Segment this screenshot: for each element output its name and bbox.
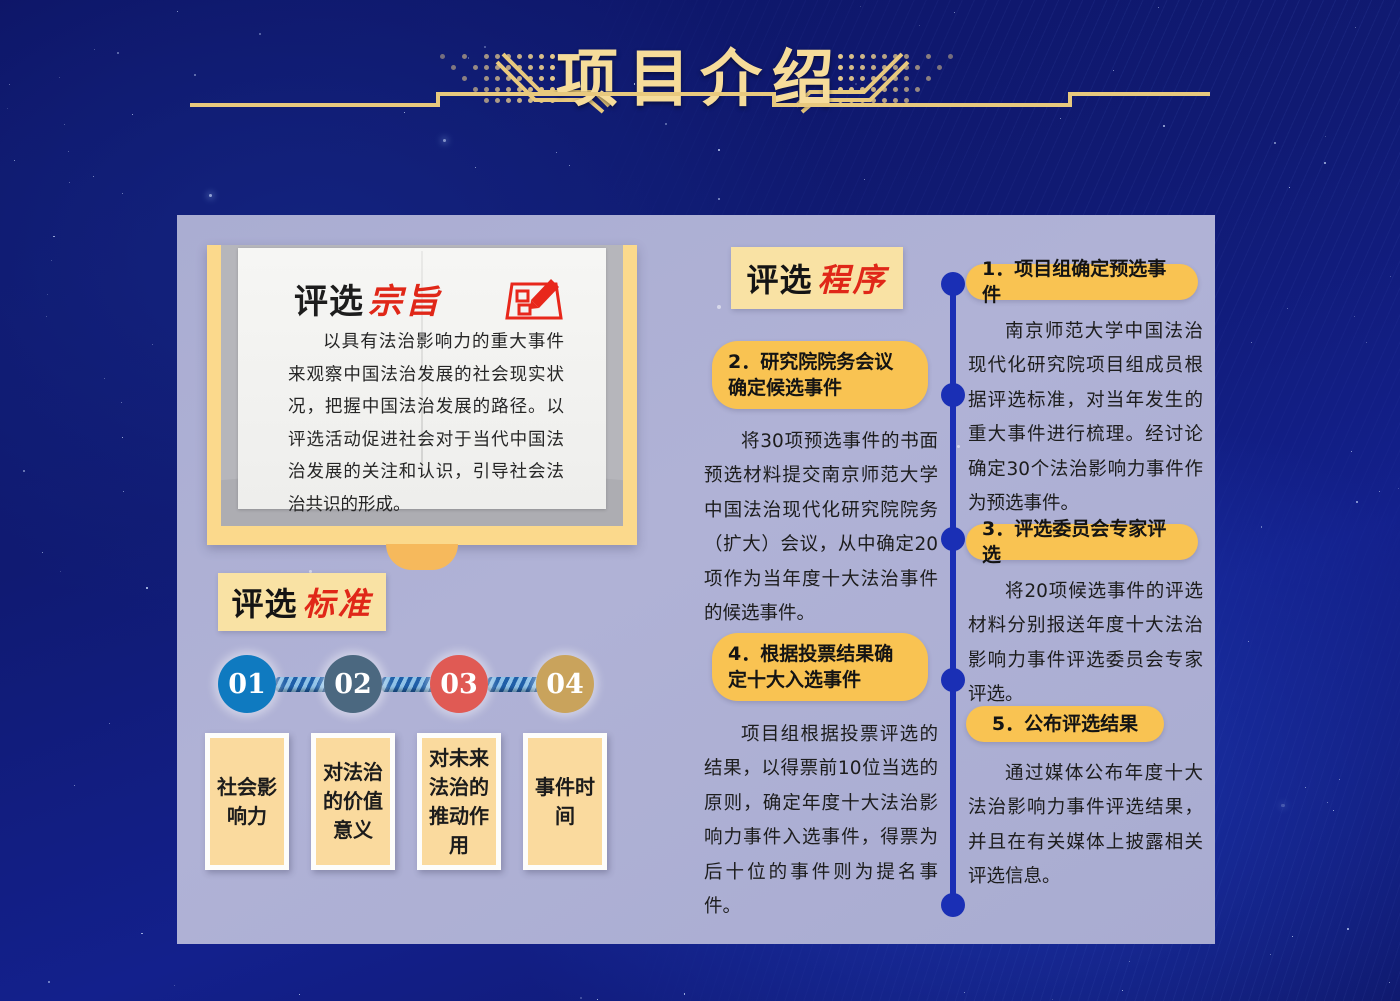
criteria-card-04[interactable]: 事件时间 (523, 733, 607, 870)
criteria-heading-accent: 标准 (303, 579, 373, 625)
criteria-card-03[interactable]: 对未来法治的推动作用 (417, 733, 501, 870)
criteria-connector-2 (382, 677, 434, 692)
purpose-heading: 评选宗旨 (294, 274, 442, 323)
purpose-heading-accent: 宗旨 (368, 282, 442, 322)
criteria-node-01-num: 01 (228, 669, 266, 700)
clipboard-pencil-icon (504, 270, 566, 324)
procedure-step-3-title-text: 3．评选委员会专家评选 (982, 516, 1182, 568)
header-rule-left (190, 103, 440, 107)
timeline-dot-3 (941, 527, 965, 551)
criteria-card-02[interactable]: 对法治的价值意义 (311, 733, 395, 870)
procedure-step-3-title[interactable]: 3．评选委员会专家评选 (966, 524, 1198, 560)
criteria-node-01[interactable]: 01 (218, 655, 276, 713)
criteria-card-03-label: 对未来法治的推动作用 (422, 738, 496, 865)
criteria-card-01[interactable]: 社会影响力 (205, 733, 289, 870)
book-page: 评选宗旨 以具有法治影响力的重大事件来观察中国法治发展的社会现实状况，把握中国法… (238, 248, 606, 509)
procedure-step-3-body: 将20项候选事件的评选材料分别报送年度十大法治影响力事件评选委员会专家评选。 (968, 575, 1203, 713)
criteria-rail: 01 02 03 04 (218, 655, 598, 717)
criteria-heading-chip: 评选标准 (218, 573, 386, 631)
procedure-step-5-title-text: 5．公布评选结果 (992, 711, 1138, 737)
criteria-node-02[interactable]: 02 (324, 655, 382, 713)
header-rule-right (1068, 92, 1210, 96)
criteria-node-03[interactable]: 03 (430, 655, 488, 713)
criteria-node-02-num: 02 (334, 669, 372, 700)
criteria-node-04[interactable]: 04 (536, 655, 594, 713)
procedure-step-2-body: 将30项预选事件的书面预选材料提交南京师范大学中国法治现代化研究院院务（扩大）会… (704, 425, 938, 631)
procedure-heading-chip: 评选程序 (731, 247, 903, 309)
procedure-heading-accent: 程序 (818, 255, 888, 301)
timeline-dot-1 (941, 272, 965, 296)
purpose-heading-prefix: 评选 (294, 282, 364, 322)
criteria-card-01-label: 社会影响力 (210, 738, 284, 865)
procedure-step-5-title[interactable]: 5．公布评选结果 (966, 706, 1164, 742)
timeline-dot-5 (941, 893, 965, 917)
procedure-timeline-line (950, 283, 956, 905)
criteria-heading-prefix: 评选 (231, 579, 297, 625)
procedure-step-4-title-text: 4．根据投票结果确定十大入选事件 (728, 641, 912, 693)
criteria-connector-1 (276, 677, 328, 692)
timeline-dot-2 (941, 383, 965, 407)
procedure-step-1-title[interactable]: 1．项目组确定预选事件 (966, 264, 1198, 300)
header-rule-mid (436, 92, 776, 96)
procedure-step-2-title[interactable]: 2．研究院院务会议确定候选事件 (712, 341, 928, 409)
procedure-step-4-body: 项目组根据投票评选的结果，以得票前10位当选的原则，确定年度十大法治影响力事件入… (704, 718, 938, 924)
criteria-node-04-num: 04 (546, 669, 584, 700)
procedure-step-1-title-text: 1．项目组确定预选事件 (982, 256, 1182, 308)
procedure-heading-prefix: 评选 (746, 255, 812, 301)
header-rule-mid2 (772, 103, 1072, 107)
procedure-step-5-body: 通过媒体公布年度十大法治影响力事件评选结果，并且在有关媒体上披露相关评选信息。 (968, 757, 1203, 895)
procedure-step-2-title-text: 2．研究院院务会议确定候选事件 (728, 349, 912, 401)
criteria-card-02-label: 对法治的价值意义 (316, 738, 390, 865)
timeline-dot-4 (941, 668, 965, 692)
poster-canvas: 项目介绍 评选宗旨 (0, 0, 1400, 1001)
procedure-step-4-title[interactable]: 4．根据投票结果确定十大入选事件 (712, 633, 928, 701)
criteria-connector-3 (488, 677, 540, 692)
purpose-body: 以具有法治影响力的重大事件来观察中国法治发展的社会现实状况，把握中国法治发展的路… (288, 326, 564, 521)
poster-header: 项目介绍 (0, 0, 1400, 132)
procedure-step-1-body: 南京师范大学中国法治现代化研究院项目组成员根据评选标准，对当年发生的重大事件进行… (968, 315, 1203, 521)
criteria-card-04-label: 事件时间 (528, 738, 602, 865)
criteria-node-03-num: 03 (440, 669, 478, 700)
purpose-book: 评选宗旨 以具有法治影响力的重大事件来观察中国法治发展的社会现实状况，把握中国法… (207, 245, 637, 545)
